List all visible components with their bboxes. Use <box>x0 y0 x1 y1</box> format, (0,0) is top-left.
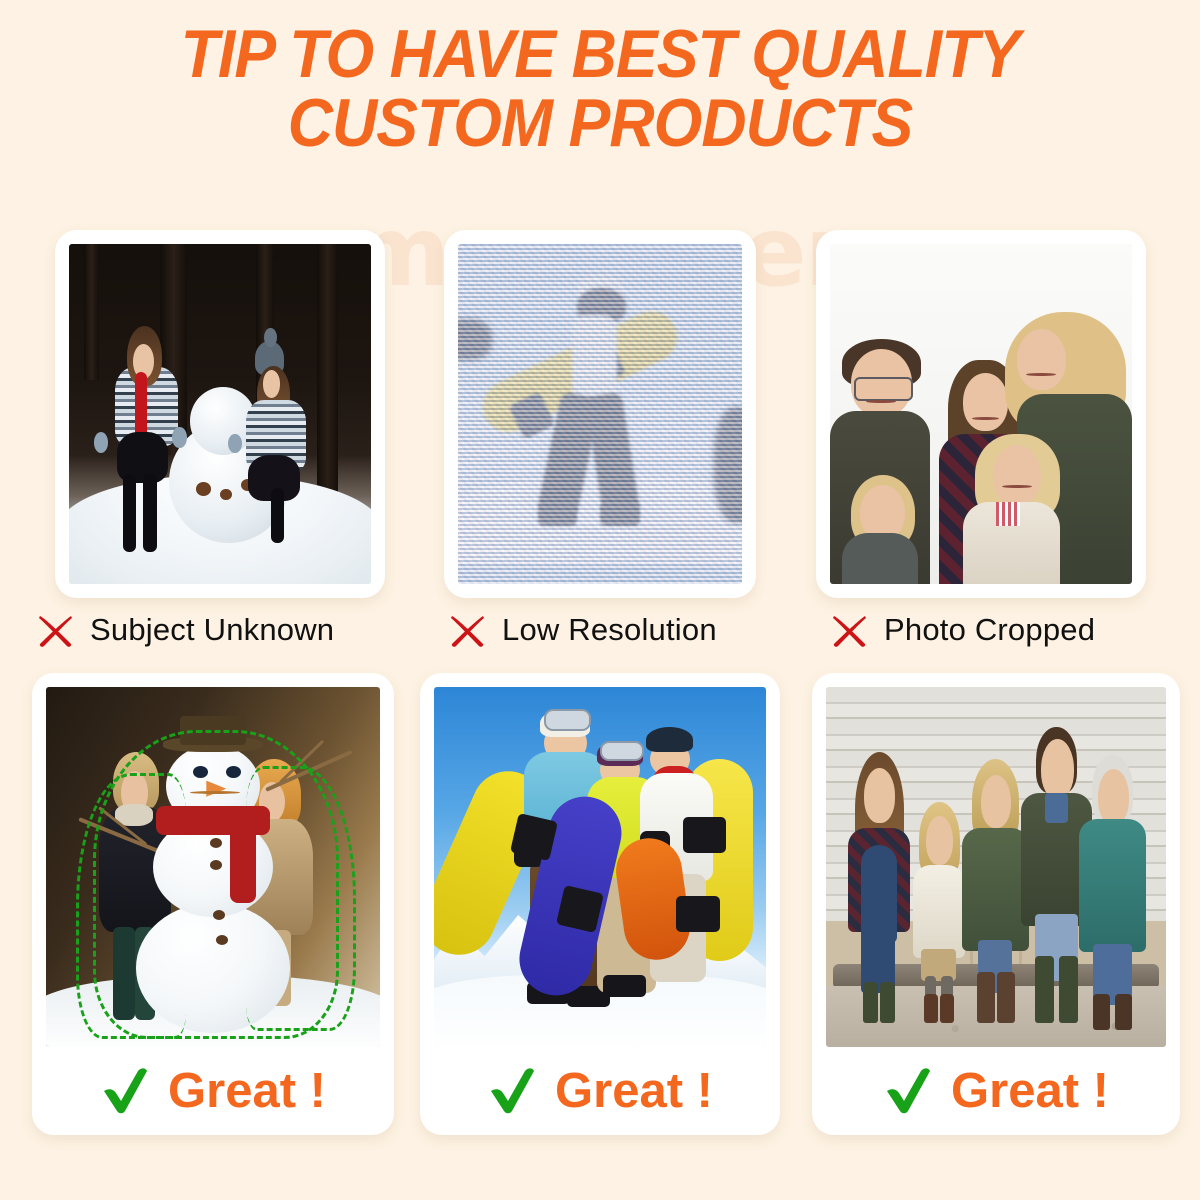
great-label: Great ! <box>555 1063 713 1119</box>
red-x-icon <box>448 610 488 650</box>
bad-example-caption-low-resolution: Low Resolution <box>448 608 717 652</box>
good-example-card-snowman: Great ! <box>32 673 394 1135</box>
great-label: Great ! <box>168 1063 326 1119</box>
bad-example-card-low-resolution <box>444 230 756 598</box>
bad-example-card-photo-cropped <box>816 230 1146 598</box>
infographic-root: macorner TIP TO HAVE BEST QUALITY CUSTOM… <box>0 0 1200 1200</box>
green-check-icon <box>883 1068 933 1114</box>
bad-example-label: Photo Cropped <box>884 612 1095 648</box>
photo-snowman-selection <box>46 687 380 1047</box>
page-title-line-1: TIP TO HAVE BEST QUALITY <box>48 20 1152 89</box>
good-example-card-snowboarders: Great ! <box>420 673 780 1135</box>
bad-example-caption-photo-cropped: Photo Cropped <box>830 608 1095 652</box>
great-label: Great ! <box>951 1063 1109 1119</box>
page-title: TIP TO HAVE BEST QUALITY CUSTOM PRODUCTS <box>48 20 1152 159</box>
red-x-icon <box>36 610 76 650</box>
bad-example-label: Subject Unknown <box>90 612 334 648</box>
bad-example-caption-subject-unknown: Subject Unknown <box>36 608 334 652</box>
photo-family-barn <box>826 687 1166 1047</box>
red-x-icon <box>830 610 870 650</box>
photo-subject-unknown <box>69 244 371 584</box>
photo-low-resolution <box>458 244 742 584</box>
great-caption: Great ! <box>46 1047 380 1135</box>
examples-grid: Great ! <box>0 0 1200 1200</box>
green-check-icon <box>487 1068 537 1114</box>
page-title-line-2: CUSTOM PRODUCTS <box>48 89 1152 158</box>
photo-snowboarders <box>434 687 766 1047</box>
green-check-icon <box>100 1068 150 1114</box>
bad-example-card-subject-unknown <box>55 230 385 598</box>
good-example-card-family-barn: Great ! <box>812 673 1180 1135</box>
photo-cropped <box>830 244 1132 584</box>
great-caption: Great ! <box>826 1047 1166 1135</box>
bad-example-label: Low Resolution <box>502 612 717 648</box>
great-caption: Great ! <box>434 1047 766 1135</box>
